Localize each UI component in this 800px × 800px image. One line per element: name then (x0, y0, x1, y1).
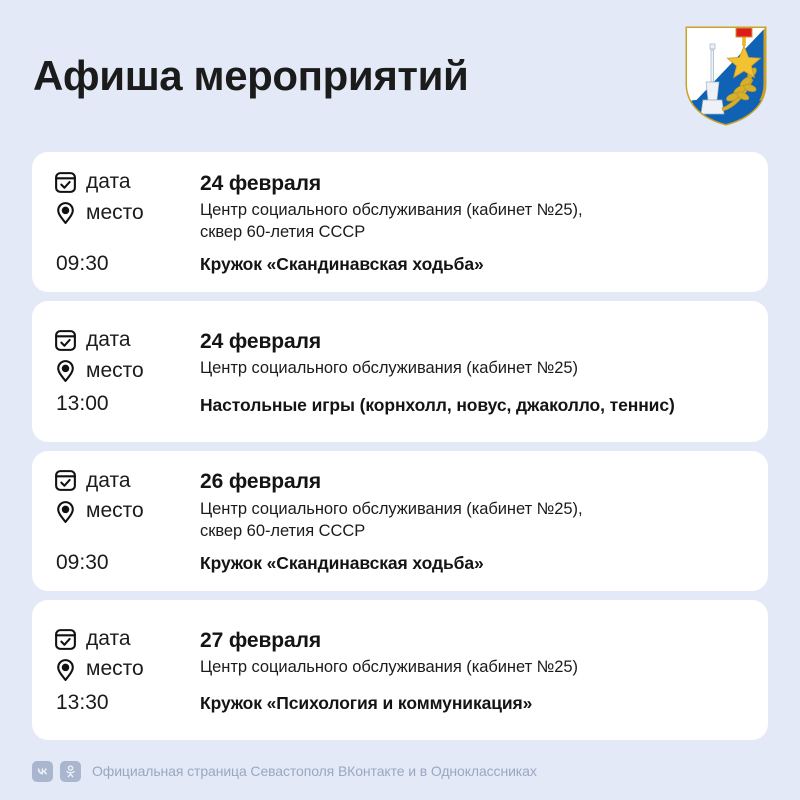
calendar-check-icon (52, 467, 79, 494)
location-pin-icon (52, 357, 79, 384)
event-time: 09:30 (52, 550, 109, 576)
event-place-value: Центр социального обслуживания (кабинет … (200, 357, 748, 380)
time-label-group: 09:30 (52, 251, 200, 277)
event-time-row: 09:30 Кружок «Скандинавская ходьба» (52, 251, 748, 277)
footer-text: Официальная страница Севастополя ВКонтак… (92, 763, 537, 780)
event-title: Кружок «Психология и коммуникация» (200, 691, 748, 715)
event-place-value: Центр социального обслуживания (кабинет … (200, 498, 748, 543)
event-place-value: Центр социального обслуживания (кабинет … (200, 199, 748, 244)
event-place-row: место Центр социального обслуживания (ка… (52, 656, 748, 683)
place-label: место (86, 498, 144, 524)
date-label: дата (86, 468, 131, 494)
event-card[interactable]: дата 24 февраля место Центр социального … (32, 301, 768, 441)
time-label-group: 09:30 (52, 550, 200, 576)
event-date-row: дата 24 февраля (52, 169, 748, 197)
place-label: место (86, 358, 144, 384)
place-label-group: место (52, 357, 200, 384)
event-date-value: 24 февраля (200, 327, 748, 355)
date-label-group: дата (52, 467, 200, 494)
event-date-value: 26 февраля (200, 467, 748, 495)
date-label-group: дата (52, 626, 200, 653)
location-pin-icon (52, 199, 79, 226)
event-place-row: место Центр социального обслуживания (ка… (52, 199, 748, 244)
location-pin-icon (52, 656, 79, 683)
page-title: Афиша мероприятий (33, 53, 468, 99)
place-label: место (86, 200, 144, 226)
poster-root: Афиша мероприятий (0, 0, 800, 800)
event-title: Настольные игры (корнхолл, новус, джакол… (200, 393, 748, 417)
event-title: Кружок «Скандинавская ходьба» (200, 252, 748, 276)
event-time-row: 13:30 Кружок «Психология и коммуникация» (52, 690, 748, 716)
event-date-row: дата 24 февраля (52, 327, 748, 355)
event-place-row: место Центр социального обслуживания (ка… (52, 357, 748, 384)
place-label-group: место (52, 199, 200, 226)
date-label: дата (86, 327, 131, 353)
event-time-row: 09:30 Кружок «Скандинавская ходьба» (52, 550, 748, 576)
event-time: 09:30 (52, 251, 109, 277)
event-date-value: 24 февраля (200, 169, 748, 197)
event-place-row: место Центр социального обслуживания (ка… (52, 498, 748, 543)
date-label: дата (86, 626, 131, 652)
event-card[interactable]: дата 24 февраля место Центр социального … (32, 152, 768, 292)
calendar-check-icon (52, 626, 79, 653)
time-label-group: 13:30 (52, 690, 200, 716)
event-date-value: 27 февраля (200, 626, 748, 654)
place-label-group: место (52, 498, 200, 525)
poster-header: Афиша мероприятий (0, 0, 800, 152)
event-place-value: Центр социального обслуживания (кабинет … (200, 656, 748, 679)
location-pin-icon (52, 498, 79, 525)
event-time: 13:00 (52, 391, 109, 417)
date-label-group: дата (52, 169, 200, 196)
sevastopol-coat-of-arms-icon (682, 24, 770, 128)
date-label: дата (86, 169, 131, 195)
poster-footer: Официальная страница Севастополя ВКонтак… (0, 742, 800, 800)
time-label-group: 13:00 (52, 391, 200, 417)
event-card[interactable]: дата 27 февраля место Центр социального … (32, 600, 768, 740)
date-label-group: дата (52, 327, 200, 354)
place-label-group: место (52, 656, 200, 683)
events-list: дата 24 февраля место Центр социального … (0, 152, 800, 740)
odnoklassniki-icon[interactable] (60, 761, 81, 782)
event-date-row: дата 26 февраля (52, 467, 748, 495)
calendar-check-icon (52, 327, 79, 354)
event-time-row: 13:00 Настольные игры (корнхолл, новус, … (52, 391, 748, 417)
event-title: Кружок «Скандинавская ходьба» (200, 551, 748, 575)
event-date-row: дата 27 февраля (52, 626, 748, 654)
event-card[interactable]: дата 26 февраля место Центр социального … (32, 451, 768, 591)
calendar-check-icon (52, 169, 79, 196)
vk-icon[interactable] (32, 761, 53, 782)
event-time: 13:30 (52, 690, 109, 716)
place-label: место (86, 656, 144, 682)
